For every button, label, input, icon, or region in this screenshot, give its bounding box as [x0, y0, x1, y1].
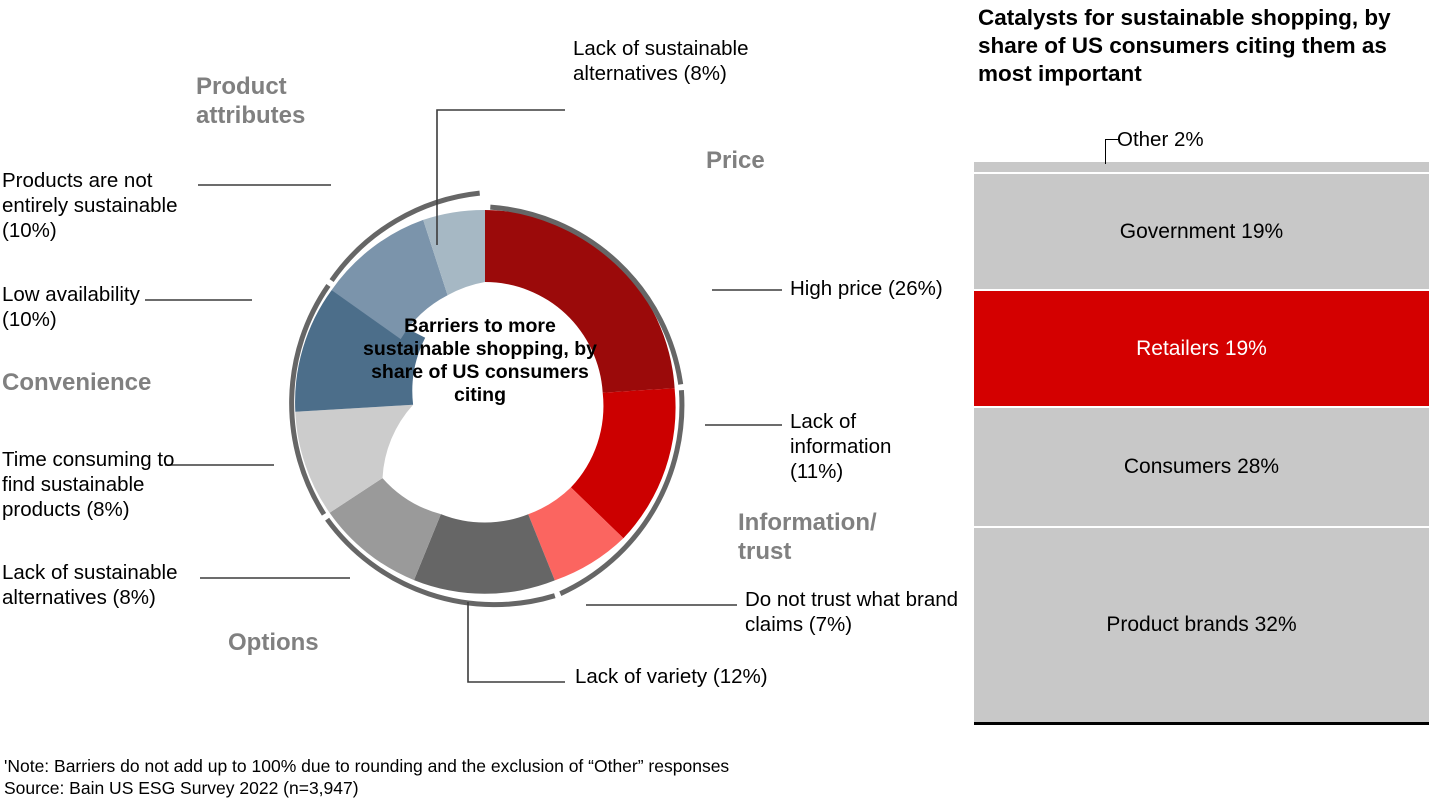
bar-segment-government[interactable]: Government 19%	[974, 174, 1429, 291]
footnote-note: 'Note: Barriers do not add up to 100% du…	[4, 755, 729, 777]
bar-baseline	[974, 722, 1429, 725]
bar-segment-government-label: Government 19%	[1120, 220, 1283, 244]
group-label-price: Price	[706, 146, 765, 175]
label-do-not-trust: Do not trust what brand claims (7%)	[745, 587, 960, 637]
group-label-convenience: Convenience	[2, 368, 151, 397]
donut-center-title: Barriers to more sustainable shopping, b…	[355, 315, 605, 407]
label-low-availability: Low availability (10%)	[2, 282, 182, 332]
bar-segment-retailers-label: Retailers 19%	[1136, 337, 1267, 361]
group-label-product-attributes: Product attributes	[196, 72, 366, 130]
bar-segment-other[interactable]	[974, 162, 1429, 174]
group-label-information-trust: Information/ trust	[738, 508, 928, 566]
leader-lack-variety	[468, 602, 565, 682]
infographic-canvas: Barriers to more sustainable shopping, b…	[0, 0, 1440, 810]
bar-chart-title: Catalysts for sustainable shopping, by s…	[978, 4, 1438, 88]
bar-segment-product-brands-label: Product brands 32%	[1106, 613, 1296, 637]
bar-segment-consumers[interactable]: Consumers 28%	[974, 408, 1429, 528]
bar-segment-product-brands[interactable]: Product brands 32%	[974, 528, 1429, 722]
group-label-options: Options	[228, 628, 319, 657]
footnote-source: Source: Bain US ESG Survey 2022 (n=3,947…	[4, 777, 359, 799]
label-products-not-sustainable: Products are not entirely sustainable (1…	[2, 168, 212, 243]
label-high-price: High price (26%)	[790, 276, 950, 301]
bar-segment-retailers[interactable]: Retailers 19%	[974, 291, 1429, 408]
donut-chart-panel: Barriers to more sustainable shopping, b…	[0, 0, 960, 745]
bar-segment-consumers-label: Consumers 28%	[1124, 455, 1279, 479]
label-lack-variety: Lack of variety (12%)	[575, 664, 785, 689]
other-callout-label: Other 2%	[1117, 128, 1204, 152]
label-lack-alternatives-options: Lack of sustainable alternatives (8%)	[2, 560, 202, 610]
label-lack-alternatives-top: Lack of sustainable alternatives (8%)	[573, 36, 833, 86]
label-time-consuming: Time consuming to find sustainable produ…	[2, 447, 192, 522]
stacked-bar: Government 19% Retailers 19% Consumers 2…	[974, 162, 1429, 722]
stacked-bar-panel: Catalysts for sustainable shopping, by s…	[960, 0, 1440, 745]
label-lack-information: Lack of information (11%)	[790, 409, 940, 484]
